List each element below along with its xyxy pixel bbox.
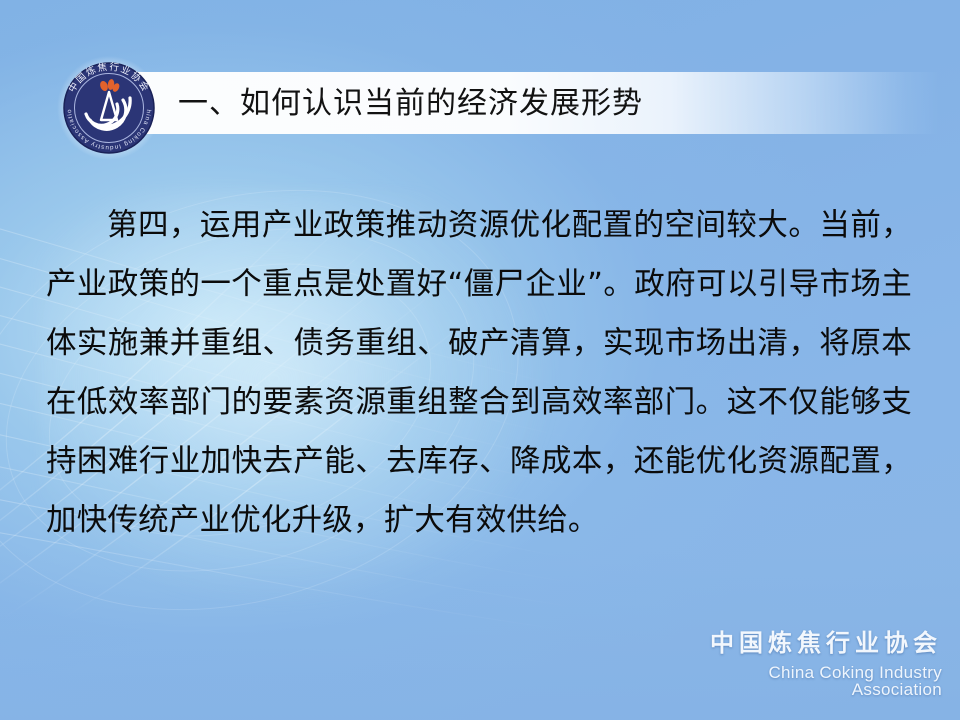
footer-org-name-cn: 中国炼焦行业协会 — [682, 631, 942, 655]
slide-body: 第四，运用产业政策推动资源优化配置的空间较大。当前，产业政策的一个重点是处置好“… — [46, 196, 912, 550]
slide-title: 一、如何认识当前的经济发展形势 — [178, 80, 878, 128]
association-logo-icon: 中国炼焦行业协会 China Coking Industry Associati… — [57, 56, 161, 160]
body-paragraph: 第四，运用产业政策推动资源优化配置的空间较大。当前，产业政策的一个重点是处置好“… — [46, 196, 912, 550]
footer-branding: 中国炼焦行业协会 China Coking Industry Associati… — [682, 631, 942, 698]
presentation-slide: 中国炼焦行业协会 China Coking Industry Associati… — [0, 0, 960, 720]
footer-org-name-en: China Coking Industry Association — [682, 664, 942, 698]
